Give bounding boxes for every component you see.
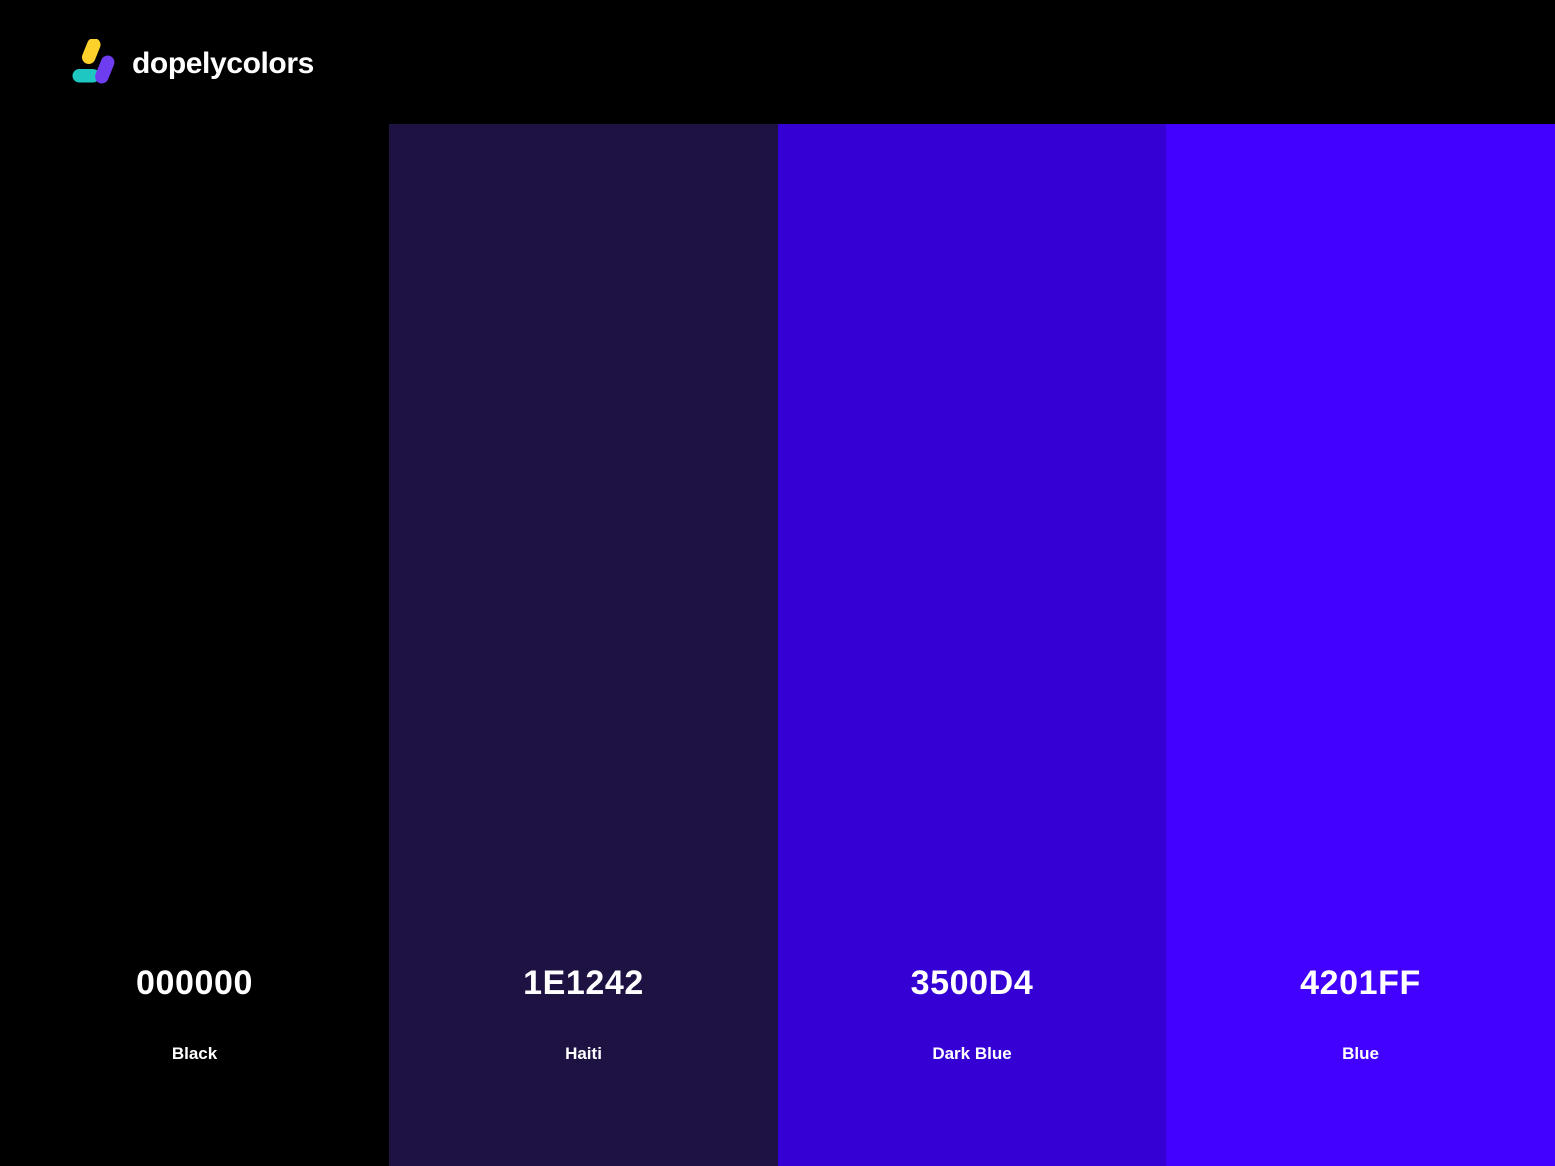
swatch-color-name: Dark Blue [778,1045,1166,1062]
swatch-hex-code[interactable]: 3500D4 [778,966,1166,1000]
swatch-color-name: Haiti [389,1045,778,1062]
swatch-color-name: Blue [1166,1045,1555,1062]
color-swatch-blue[interactable]: 4201FF Blue [1166,0,1555,1166]
palette-page: 000000 Black 1E1242 Haiti 3500D4 Dark Bl… [0,0,1555,1166]
color-swatch-dark-blue[interactable]: 3500D4 Dark Blue [778,0,1166,1166]
color-swatch-strip: 000000 Black 1E1242 Haiti 3500D4 Dark Bl… [0,0,1555,1166]
swatch-hex-code[interactable]: 4201FF [1166,966,1555,1000]
swatch-color-name: Black [0,1045,389,1062]
swatch-caption: 4201FF Blue [1166,966,1555,1166]
swatch-hex-code[interactable]: 1E1242 [389,966,778,1000]
brand-logo[interactable]: dopelycolors [72,38,314,90]
color-swatch-black[interactable]: 000000 Black [0,0,389,1166]
swatch-caption: 1E1242 Haiti [389,966,778,1166]
brand-wordmark: dopelycolors [132,49,314,79]
swatch-hex-code[interactable]: 000000 [0,966,389,1000]
swatch-caption: 3500D4 Dark Blue [778,966,1166,1166]
dopely-capsules-logo-icon [72,39,118,89]
color-swatch-haiti[interactable]: 1E1242 Haiti [389,0,778,1166]
swatch-caption: 000000 Black [0,966,389,1166]
